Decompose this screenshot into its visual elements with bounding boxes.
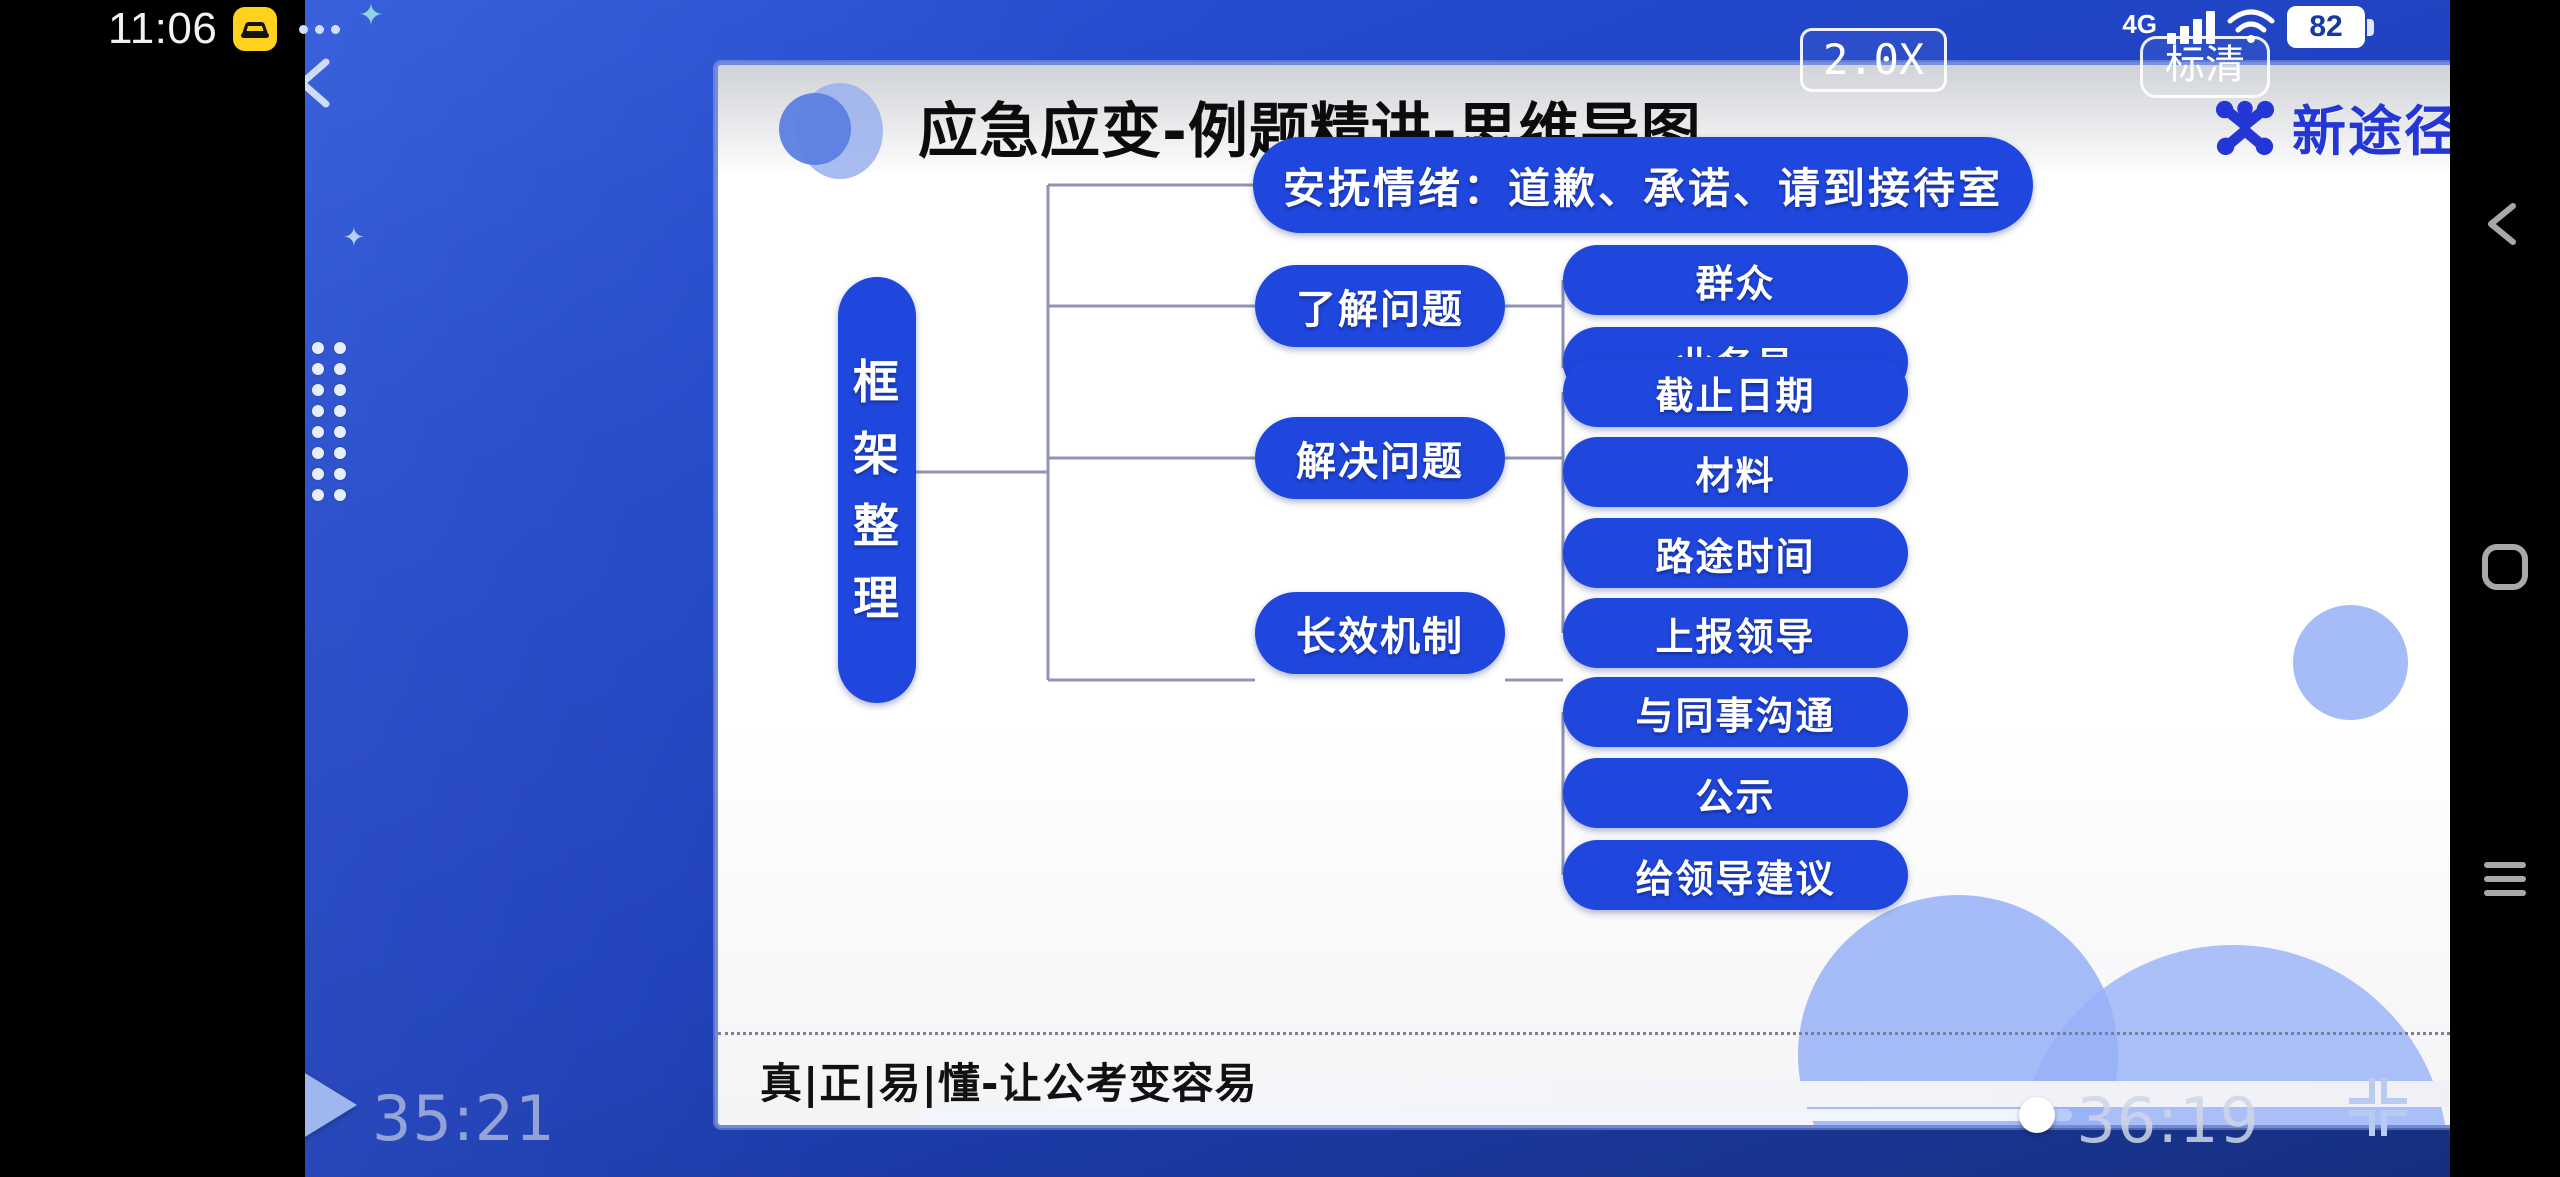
video-player-surface[interactable]: ✦ ✦ ✦ ✦ 应急应变-例题精讲-思维导图: [305, 0, 2450, 1177]
mindmap-leaf-node: 群众: [1563, 245, 1908, 315]
presentation-slide: 应急应变-例题精讲-思维导图 新途径职教: [715, 62, 2450, 1128]
progress-slider[interactable]: [917, 1109, 2072, 1121]
nav-home-button[interactable]: [2478, 540, 2532, 599]
mindmap-leaf-node: 截止日期: [1563, 357, 1908, 427]
root-char: 框: [853, 359, 901, 405]
mindmap-leaf-node: 公示: [1563, 758, 1908, 828]
player-controls[interactable]: 35:21 36:19: [305, 1037, 2450, 1177]
exit-fullscreen-icon: [2346, 1075, 2410, 1139]
back-button[interactable]: [305, 48, 350, 118]
android-nav-bar[interactable]: [2450, 0, 2560, 1177]
root-char: 理: [853, 575, 901, 621]
exit-fullscreen-button[interactable]: [2346, 1075, 2410, 1139]
nav-home-icon: [2478, 540, 2532, 594]
person-logo-icon: [2214, 96, 2276, 158]
mindmap-leaf-node: 材料: [1563, 437, 1908, 507]
mindmap-root-node: 框 架 整 理: [838, 277, 916, 703]
total-time-label: 36:19: [2076, 1084, 2260, 1157]
progress-fill: [917, 1109, 2037, 1121]
mindmap-leaf-node: 路途时间: [1563, 518, 1908, 588]
progress-thumb[interactable]: [2019, 1097, 2055, 1133]
drag-dots-icon[interactable]: [305, 342, 336, 501]
nav-recents-button[interactable]: [2478, 855, 2532, 908]
playback-speed-badge[interactable]: 2.0X: [1800, 28, 1947, 92]
mindmap-branch-node: 长效机制: [1255, 592, 1505, 674]
mindmap-leaf-node: 给领导建议: [1563, 840, 1908, 910]
header-blob-decoration: [773, 75, 893, 187]
letterbox-left: [0, 0, 305, 1177]
video-quality-button[interactable]: 标清: [2140, 36, 2270, 98]
brand-name: 新途径职教: [2292, 87, 2450, 166]
chevron-left-icon: [305, 48, 350, 118]
current-time-label: 35:21: [372, 1082, 556, 1155]
mindmap-branch-node: 解决问题: [1255, 417, 1505, 499]
mindmap-leaf-node: 上报领导: [1563, 598, 1908, 668]
play-button[interactable]: [305, 1067, 357, 1143]
mindmap-leaf-node: 与同事沟通: [1563, 677, 1908, 747]
root-char: 架: [853, 431, 901, 477]
nav-recents-icon: [2478, 855, 2532, 903]
decorative-circle: [2293, 605, 2408, 720]
mindmap-branch-node: 了解问题: [1255, 265, 1505, 347]
nav-back-icon: [2479, 198, 2531, 250]
nav-back-button[interactable]: [2479, 198, 2531, 255]
sparkle-icon: ✦: [343, 222, 365, 253]
brand-logo: 新途径职教: [2214, 87, 2450, 166]
root-char: 整: [853, 503, 901, 549]
mindmap-branch-node: 安抚情绪：道歉、承诺、请到接待室: [1253, 137, 2033, 233]
